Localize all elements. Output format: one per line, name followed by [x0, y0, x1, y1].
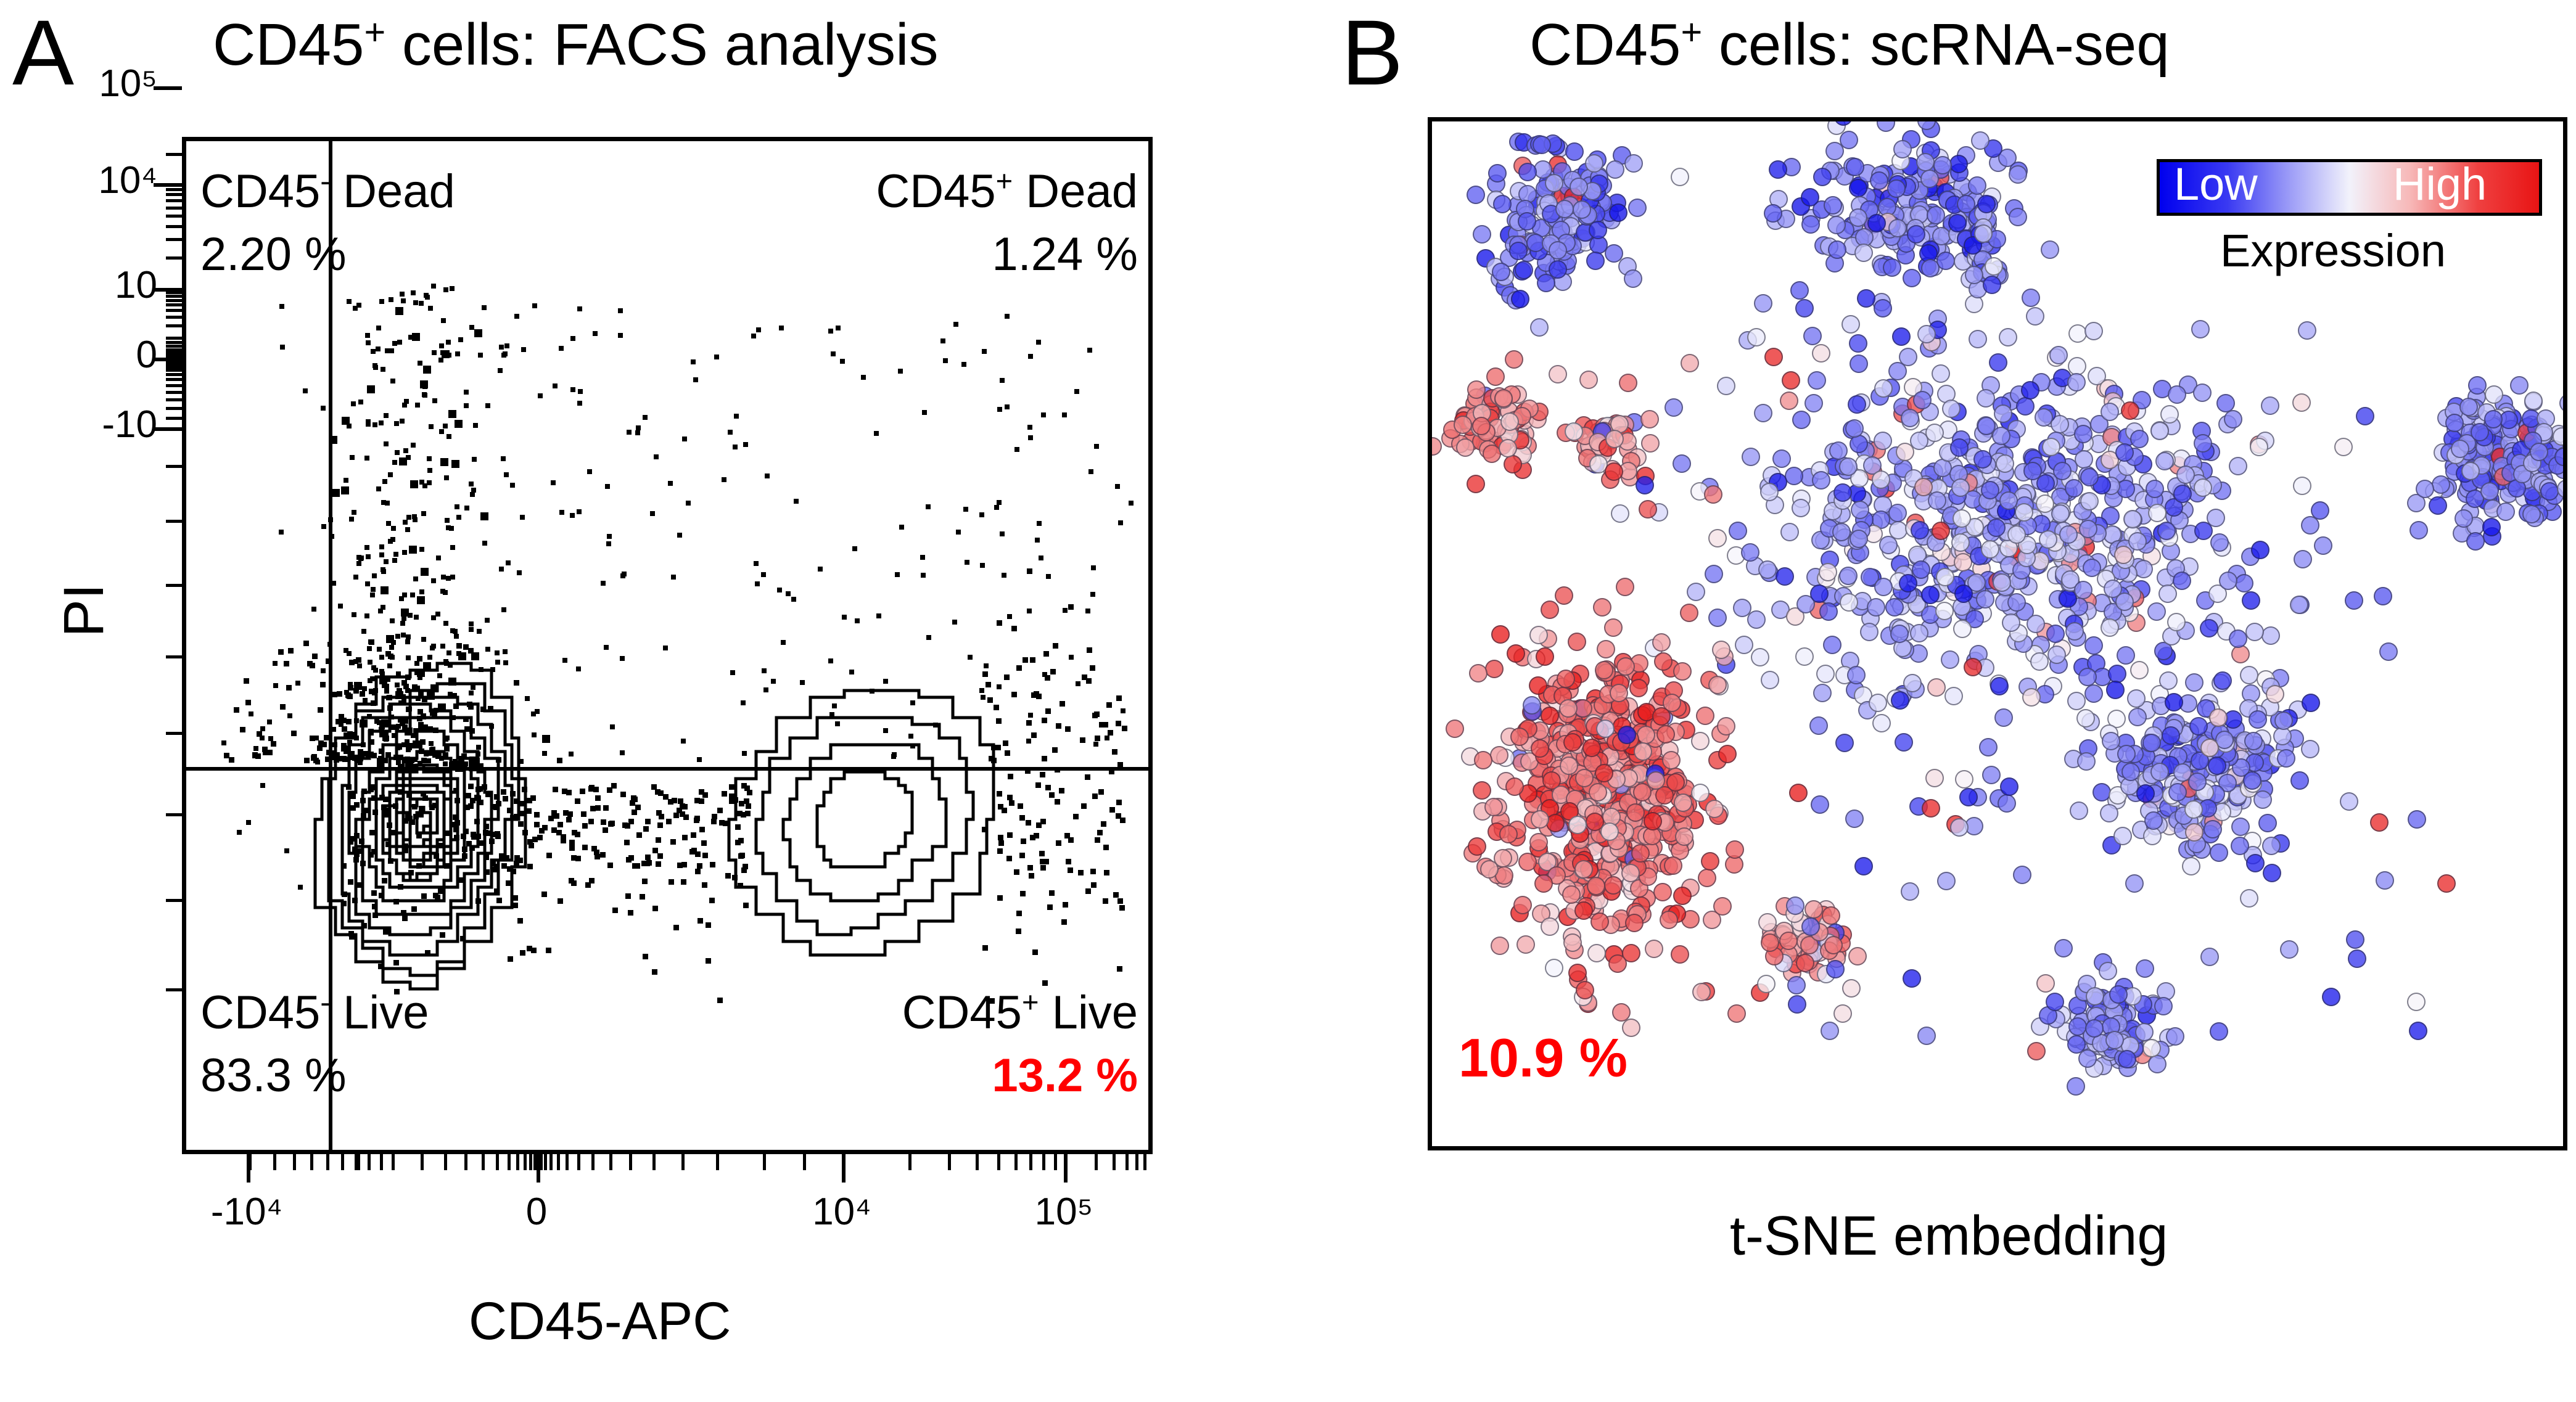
- facs-event: [635, 430, 640, 435]
- tsne-point: [1920, 170, 1939, 188]
- tsne-point: [1674, 793, 1692, 812]
- facs-event: [229, 757, 234, 763]
- facs-event: [401, 616, 406, 621]
- x-tick-minor-23: [544, 1154, 547, 1170]
- facs-event: [288, 648, 294, 654]
- panel-b-title-pre: CD45: [1529, 12, 1681, 78]
- tsne-point: [1518, 212, 1536, 231]
- tsne-point: [2142, 734, 2161, 752]
- x-axis-title-cd45-apc: CD45-APC: [469, 1295, 731, 1348]
- facs-event: [393, 803, 398, 809]
- facs-event: [1028, 435, 1033, 440]
- tsne-point: [1687, 583, 1705, 601]
- quadrant-label-cd45-neg-live: CD45- Live: [200, 986, 429, 1039]
- facs-event: [429, 424, 434, 429]
- facs-event: [359, 838, 364, 844]
- facs-event: [1045, 675, 1050, 681]
- facs-event: [765, 473, 770, 478]
- facs-event: [437, 673, 442, 678]
- tsne-point: [1849, 334, 1867, 353]
- facs-event: [791, 597, 796, 602]
- facs-event: [273, 661, 278, 666]
- facs-event: [421, 511, 426, 516]
- facs-event: [295, 681, 300, 686]
- facs-event: [994, 505, 999, 510]
- facs-event: [379, 748, 384, 754]
- tsne-point: [2023, 462, 2042, 480]
- facs-event: [794, 499, 799, 504]
- facs-event: [581, 811, 586, 817]
- tsne-point: [2182, 857, 2200, 875]
- facs-event: [439, 343, 444, 348]
- tsne-point: [1869, 694, 1887, 712]
- facs-event: [1002, 573, 1006, 578]
- facs-event: [588, 819, 594, 824]
- facs-event: [535, 709, 540, 714]
- x-tick-minor-18: [516, 1154, 519, 1170]
- facs-event: [755, 581, 760, 586]
- tsne-point: [1764, 348, 1783, 366]
- facs-event: [1031, 692, 1037, 698]
- facs-event: [606, 541, 611, 546]
- facs-event: [961, 362, 966, 367]
- x-tick-minor-44: [1095, 1154, 1098, 1170]
- tsne-point: [1595, 661, 1613, 679]
- facs-event: [372, 363, 377, 368]
- facs-event: [482, 541, 487, 546]
- facs-event: [1095, 837, 1100, 843]
- tsne-point: [2065, 622, 2084, 641]
- facs-event: [725, 873, 731, 879]
- facs-event: [354, 802, 360, 808]
- facs-event: [1021, 838, 1026, 844]
- tsne-point: [1950, 818, 1969, 837]
- y-tick-major-3: [154, 358, 182, 361]
- facs-event: [829, 712, 834, 717]
- facs-event: [514, 814, 519, 819]
- facs-event: [1019, 853, 1025, 858]
- facs-event: [883, 728, 888, 733]
- facs-event: [655, 789, 660, 795]
- x-tick-minor-17: [508, 1154, 511, 1170]
- facs-event: [464, 805, 470, 810]
- tsne-point: [2026, 307, 2044, 326]
- tsne-point: [2188, 773, 2207, 791]
- tsne-point: [1776, 567, 1794, 586]
- tsne-point: [1823, 636, 1841, 654]
- y-tick-minor-26: [166, 391, 182, 394]
- x-tick-minor-14: [464, 1154, 467, 1170]
- x-tick-minor-6: [355, 1154, 358, 1170]
- facs-event: [519, 811, 525, 816]
- facs-event: [431, 578, 436, 583]
- facs-event: [712, 814, 717, 819]
- tsne-point: [1795, 647, 1814, 666]
- facs-event: [381, 567, 385, 572]
- y-tick-major-0: [154, 86, 182, 90]
- facs-event: [1063, 902, 1068, 908]
- facs-event: [371, 587, 376, 592]
- facs-event: [728, 430, 733, 435]
- facs-event: [527, 946, 532, 951]
- facs-event: [455, 820, 460, 826]
- facs-event: [417, 656, 422, 662]
- tsne-point: [1903, 269, 1921, 287]
- facs-event: [271, 741, 276, 747]
- facs-event: [1090, 665, 1095, 671]
- facs-event: [371, 890, 377, 896]
- facs-event: [711, 819, 717, 824]
- facs-event: [953, 322, 958, 327]
- x-tick-minor-7: [368, 1154, 371, 1170]
- tsne-point: [1698, 869, 1716, 887]
- facs-event: [1050, 669, 1056, 674]
- facs-event: [556, 830, 562, 835]
- facs-event: [412, 684, 418, 690]
- facs-event: [438, 703, 446, 711]
- facs-event: [368, 660, 372, 665]
- facs-event: [1034, 833, 1039, 838]
- tsne-point: [2408, 810, 2426, 829]
- tsne-point: [1977, 389, 1995, 408]
- tsne-point: [2370, 813, 2389, 832]
- facs-event: [469, 482, 474, 486]
- tsne-point: [2240, 889, 2258, 908]
- facs-event: [360, 691, 365, 697]
- facs-event: [464, 726, 470, 732]
- facs-event: [444, 475, 449, 480]
- tsne-point: [1488, 164, 1507, 182]
- facs-event: [349, 751, 355, 756]
- facs-event: [367, 714, 372, 719]
- facs-event: [494, 794, 500, 800]
- facs-event: [1053, 643, 1058, 649]
- facs-event: [409, 546, 417, 554]
- facs-event: [403, 520, 408, 525]
- facs-event: [601, 819, 606, 825]
- tsne-point: [2041, 240, 2059, 259]
- facs-event: [334, 757, 339, 763]
- facs-event: [737, 811, 743, 816]
- facs-event: [253, 746, 258, 751]
- facs-event: [463, 644, 469, 650]
- facs-event: [392, 558, 397, 563]
- facs-event: [348, 685, 353, 691]
- x-tick-minor-13: [444, 1154, 447, 1170]
- facs-event: [341, 743, 347, 748]
- facs-event: [1006, 856, 1012, 861]
- tsne-point: [1717, 717, 1735, 736]
- facs-event: [400, 419, 405, 424]
- facs-event: [537, 835, 543, 840]
- facs-event: [324, 735, 329, 740]
- facs-event: [368, 729, 374, 734]
- y-tick-minor-32: [166, 356, 182, 359]
- facs-event: [607, 534, 612, 539]
- facs-event: [603, 805, 609, 811]
- tsne-point: [2496, 502, 2515, 521]
- facs-event: [419, 589, 424, 594]
- tsne-point: [1839, 567, 1858, 585]
- tsne-point: [2246, 854, 2265, 872]
- facs-event: [522, 787, 527, 792]
- facs-event: [260, 736, 265, 740]
- tsne-point: [1568, 816, 1587, 834]
- tsne-point: [1903, 674, 1922, 692]
- x-tick-label-1: 0: [487, 1193, 586, 1231]
- tsne-point: [1892, 327, 1911, 346]
- facs-event: [453, 814, 458, 820]
- facs-event: [395, 683, 400, 687]
- facs-event: [321, 406, 326, 411]
- facs-event: [604, 645, 609, 650]
- tsne-point: [1735, 636, 1753, 654]
- facs-event: [430, 684, 438, 692]
- tsne-point: [2108, 665, 2126, 683]
- facs-event: [1018, 803, 1023, 809]
- y-tick-minor-16: [166, 358, 182, 361]
- tsne-point: [1891, 691, 1909, 710]
- facs-event: [414, 615, 419, 620]
- tsne-point: [1587, 944, 1606, 962]
- tsne-point: [2109, 985, 2128, 1004]
- facs-event: [669, 879, 674, 885]
- facs-event: [361, 789, 367, 794]
- facs-event: [542, 751, 547, 756]
- facs-event: [1037, 521, 1042, 526]
- facs-event: [532, 732, 537, 737]
- facs-event: [686, 501, 691, 506]
- y-tick-minor-3: [166, 207, 182, 210]
- facs-event: [330, 750, 335, 756]
- facs-event: [421, 637, 426, 642]
- tsne-point: [1761, 671, 1779, 689]
- tsne-point: [2185, 673, 2204, 692]
- y-tick-minor-9: [166, 295, 182, 298]
- tsne-point: [2166, 1027, 2184, 1046]
- quadrant-label-cd45-pos-live: CD45+ Live: [902, 986, 1138, 1039]
- facs-event: [479, 763, 484, 768]
- facs-event: [1116, 800, 1122, 805]
- tsne-point: [2074, 425, 2092, 443]
- facs-event: [450, 545, 455, 550]
- tsne-point: [1888, 219, 1907, 237]
- facs-event: [1090, 869, 1096, 874]
- facs-event: [771, 679, 776, 684]
- tsne-point: [2468, 376, 2487, 395]
- facs-event: [476, 745, 481, 750]
- facs-event: [986, 682, 991, 687]
- facs-event: [432, 713, 437, 718]
- facs-event: [387, 663, 392, 668]
- facs-event: [455, 504, 459, 509]
- facs-event: [393, 724, 399, 730]
- facs-event: [273, 683, 278, 688]
- facs-event: [744, 798, 749, 804]
- facs-event: [691, 359, 696, 364]
- tsne-point: [2376, 871, 2394, 890]
- tsne-point: [2015, 503, 2033, 522]
- facs-event: [657, 853, 663, 859]
- facs-event: [260, 783, 265, 788]
- facs-event: [576, 666, 581, 671]
- tsne-point: [2480, 482, 2499, 501]
- panel-a-title-pre: CD45: [213, 12, 364, 78]
- tsne-point: [1816, 665, 1835, 683]
- facs-event: [717, 808, 723, 813]
- facs-event: [443, 621, 448, 626]
- facs-event: [374, 719, 379, 724]
- facs-event: [1026, 720, 1032, 726]
- facs-event: [559, 510, 564, 515]
- facs-event: [332, 742, 337, 747]
- tsne-point: [2482, 518, 2501, 536]
- facs-event: [697, 757, 702, 762]
- facs-event: [678, 798, 683, 804]
- tsne-point: [1760, 483, 1779, 501]
- facs-event: [401, 910, 406, 916]
- facs-event: [341, 718, 347, 723]
- facs-event: [363, 808, 368, 813]
- facs-event: [1074, 389, 1079, 394]
- facs-event: [503, 660, 508, 665]
- facs-event: [1039, 851, 1045, 856]
- facs-event: [1076, 681, 1080, 686]
- y-tick-minor-8: [166, 291, 182, 294]
- facs-event: [998, 835, 1003, 840]
- facs-event: [508, 956, 513, 962]
- tsne-point: [1828, 240, 1846, 259]
- facs-event: [408, 613, 413, 618]
- facs-event: [346, 719, 352, 724]
- facs-event: [1081, 803, 1087, 809]
- tsne-point: [2210, 1022, 2228, 1041]
- facs-event: [469, 758, 474, 763]
- facs-event: [504, 343, 509, 348]
- facs-event: [693, 377, 698, 382]
- facs-event: [650, 511, 655, 516]
- facs-event: [828, 329, 833, 334]
- tsne-point: [1801, 917, 1820, 936]
- tsne-point: [1769, 160, 1787, 179]
- y-axis-title-pi: PI: [56, 518, 112, 703]
- facs-event: [389, 297, 393, 302]
- facs-event: [482, 784, 487, 790]
- facs-event: [368, 678, 372, 683]
- facs-event: [469, 325, 474, 330]
- facs-event: [1016, 911, 1022, 916]
- facs-event: [438, 358, 443, 363]
- facs-event: [870, 689, 874, 694]
- facs-event: [369, 784, 375, 790]
- facs-event: [352, 898, 358, 903]
- x-tick-minor-3: [310, 1154, 313, 1170]
- y-tick-minor-12: [166, 309, 182, 312]
- facs-event: [354, 718, 359, 723]
- tsne-point: [2080, 492, 2099, 510]
- facs-event: [331, 581, 336, 586]
- x-tick-minor-31: [652, 1154, 656, 1170]
- facs-event: [1055, 767, 1060, 773]
- tsne-point: [2334, 438, 2353, 456]
- y-tick-minor-17: [166, 358, 182, 361]
- facs-event: [514, 680, 519, 686]
- tsne-point: [1993, 573, 2011, 592]
- facs-event: [400, 292, 405, 297]
- x-tick-minor-4: [326, 1154, 329, 1170]
- facs-event: [701, 840, 707, 846]
- facs-event: [284, 848, 289, 853]
- facs-event: [395, 307, 403, 315]
- tsne-point: [2121, 763, 2140, 781]
- tsne-point: [1582, 739, 1601, 757]
- facs-event: [378, 609, 383, 613]
- facs-event: [786, 591, 791, 596]
- facs-event: [337, 691, 342, 697]
- tsne-point: [1888, 504, 1907, 522]
- facs-event: [381, 500, 386, 505]
- facs-event: [382, 479, 387, 484]
- facs-event: [484, 855, 489, 860]
- facs-event: [384, 413, 389, 418]
- tsne-point: [1927, 206, 1945, 224]
- facs-event: [413, 764, 418, 769]
- facs-event: [1105, 736, 1109, 740]
- facs-event: [1068, 604, 1074, 610]
- facs-event: [344, 648, 348, 653]
- tsne-point: [2165, 693, 2183, 711]
- facs-event: [1118, 520, 1123, 525]
- tsne-point: [2136, 784, 2155, 803]
- facs-event: [427, 480, 432, 485]
- facs-event: [431, 644, 436, 649]
- facs-event: [450, 761, 455, 766]
- x-tick-minor-30: [629, 1154, 632, 1170]
- facs-event: [385, 842, 391, 847]
- tsne-point: [1531, 739, 1549, 758]
- facs-event: [706, 922, 711, 928]
- facs-event: [610, 724, 615, 729]
- facs-event: [836, 326, 841, 330]
- facs-event: [741, 867, 747, 873]
- contour-ring: [729, 691, 994, 955]
- facs-event: [963, 507, 968, 512]
- facs-event: [456, 515, 461, 520]
- tsne-point: [1985, 257, 2003, 276]
- facs-event: [393, 552, 398, 557]
- facs-event: [997, 895, 1003, 901]
- tsne-point: [2471, 423, 2489, 441]
- tsne-point: [2027, 1042, 2046, 1060]
- tsne-point: [1987, 519, 2006, 537]
- facs-event: [546, 948, 551, 953]
- panel-a-title-sup: +: [364, 11, 385, 52]
- tsne-point: [1877, 121, 1895, 132]
- facs-event: [991, 745, 997, 750]
- facs-event: [485, 792, 491, 797]
- tsne-point: [1621, 864, 1640, 882]
- facs-event: [522, 830, 528, 835]
- tsne-point: [1616, 578, 1634, 596]
- facs-event: [982, 671, 988, 677]
- facs-event: [332, 489, 340, 497]
- facs-event: [729, 784, 735, 790]
- facs-event: [387, 822, 392, 828]
- x-tick-minor-2: [293, 1154, 296, 1170]
- tsne-point: [2250, 438, 2268, 456]
- facs-event: [433, 728, 438, 733]
- facs-event: [411, 906, 417, 912]
